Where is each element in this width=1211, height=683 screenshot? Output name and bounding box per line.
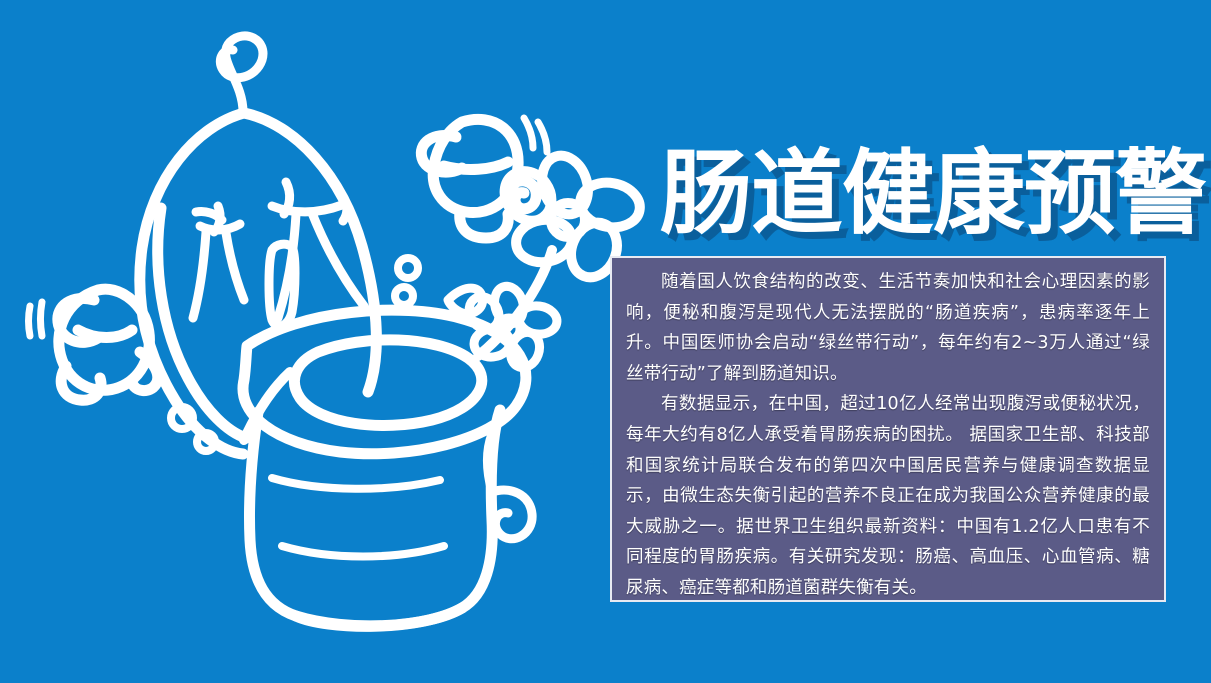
lid-brush-strokes-icon bbox=[193, 182, 364, 326]
bird-left-icon bbox=[58, 289, 158, 400]
motion-lines-top-icon bbox=[524, 118, 547, 152]
article-text-panel: 随着国人饮食结构的改变、生活节奏加快和社会心理因素的影响，便秘和腹泻是现代人无法… bbox=[610, 256, 1166, 602]
poster-canvas: 肠道健康预警 肠道健康预警 随着国人饮食结构的改变、生活节奏加快和社会心理因素的… bbox=[0, 0, 1211, 683]
motion-lines-left-icon bbox=[29, 302, 43, 336]
page-title: 肠道健康预警 肠道健康预警 bbox=[660, 139, 1200, 249]
toilet-lid-open-icon bbox=[140, 113, 377, 454]
article-paragraph-2: 有数据显示，在中国，超过10亿人经常出现腹泻或便秘状况，每年大约有8亿人承受着胃… bbox=[626, 389, 1150, 603]
bowl-shading-icon bbox=[272, 478, 444, 557]
article-paragraph-1: 随着国人饮食结构的改变、生活节奏加快和社会心理因素的影响，便秘和腹泻是现代人无法… bbox=[626, 267, 1150, 389]
toilet-line-art-illustration bbox=[0, 0, 660, 683]
curl-swirl-top-icon bbox=[220, 36, 263, 112]
page-title-text: 肠道健康预警 bbox=[660, 139, 1200, 249]
